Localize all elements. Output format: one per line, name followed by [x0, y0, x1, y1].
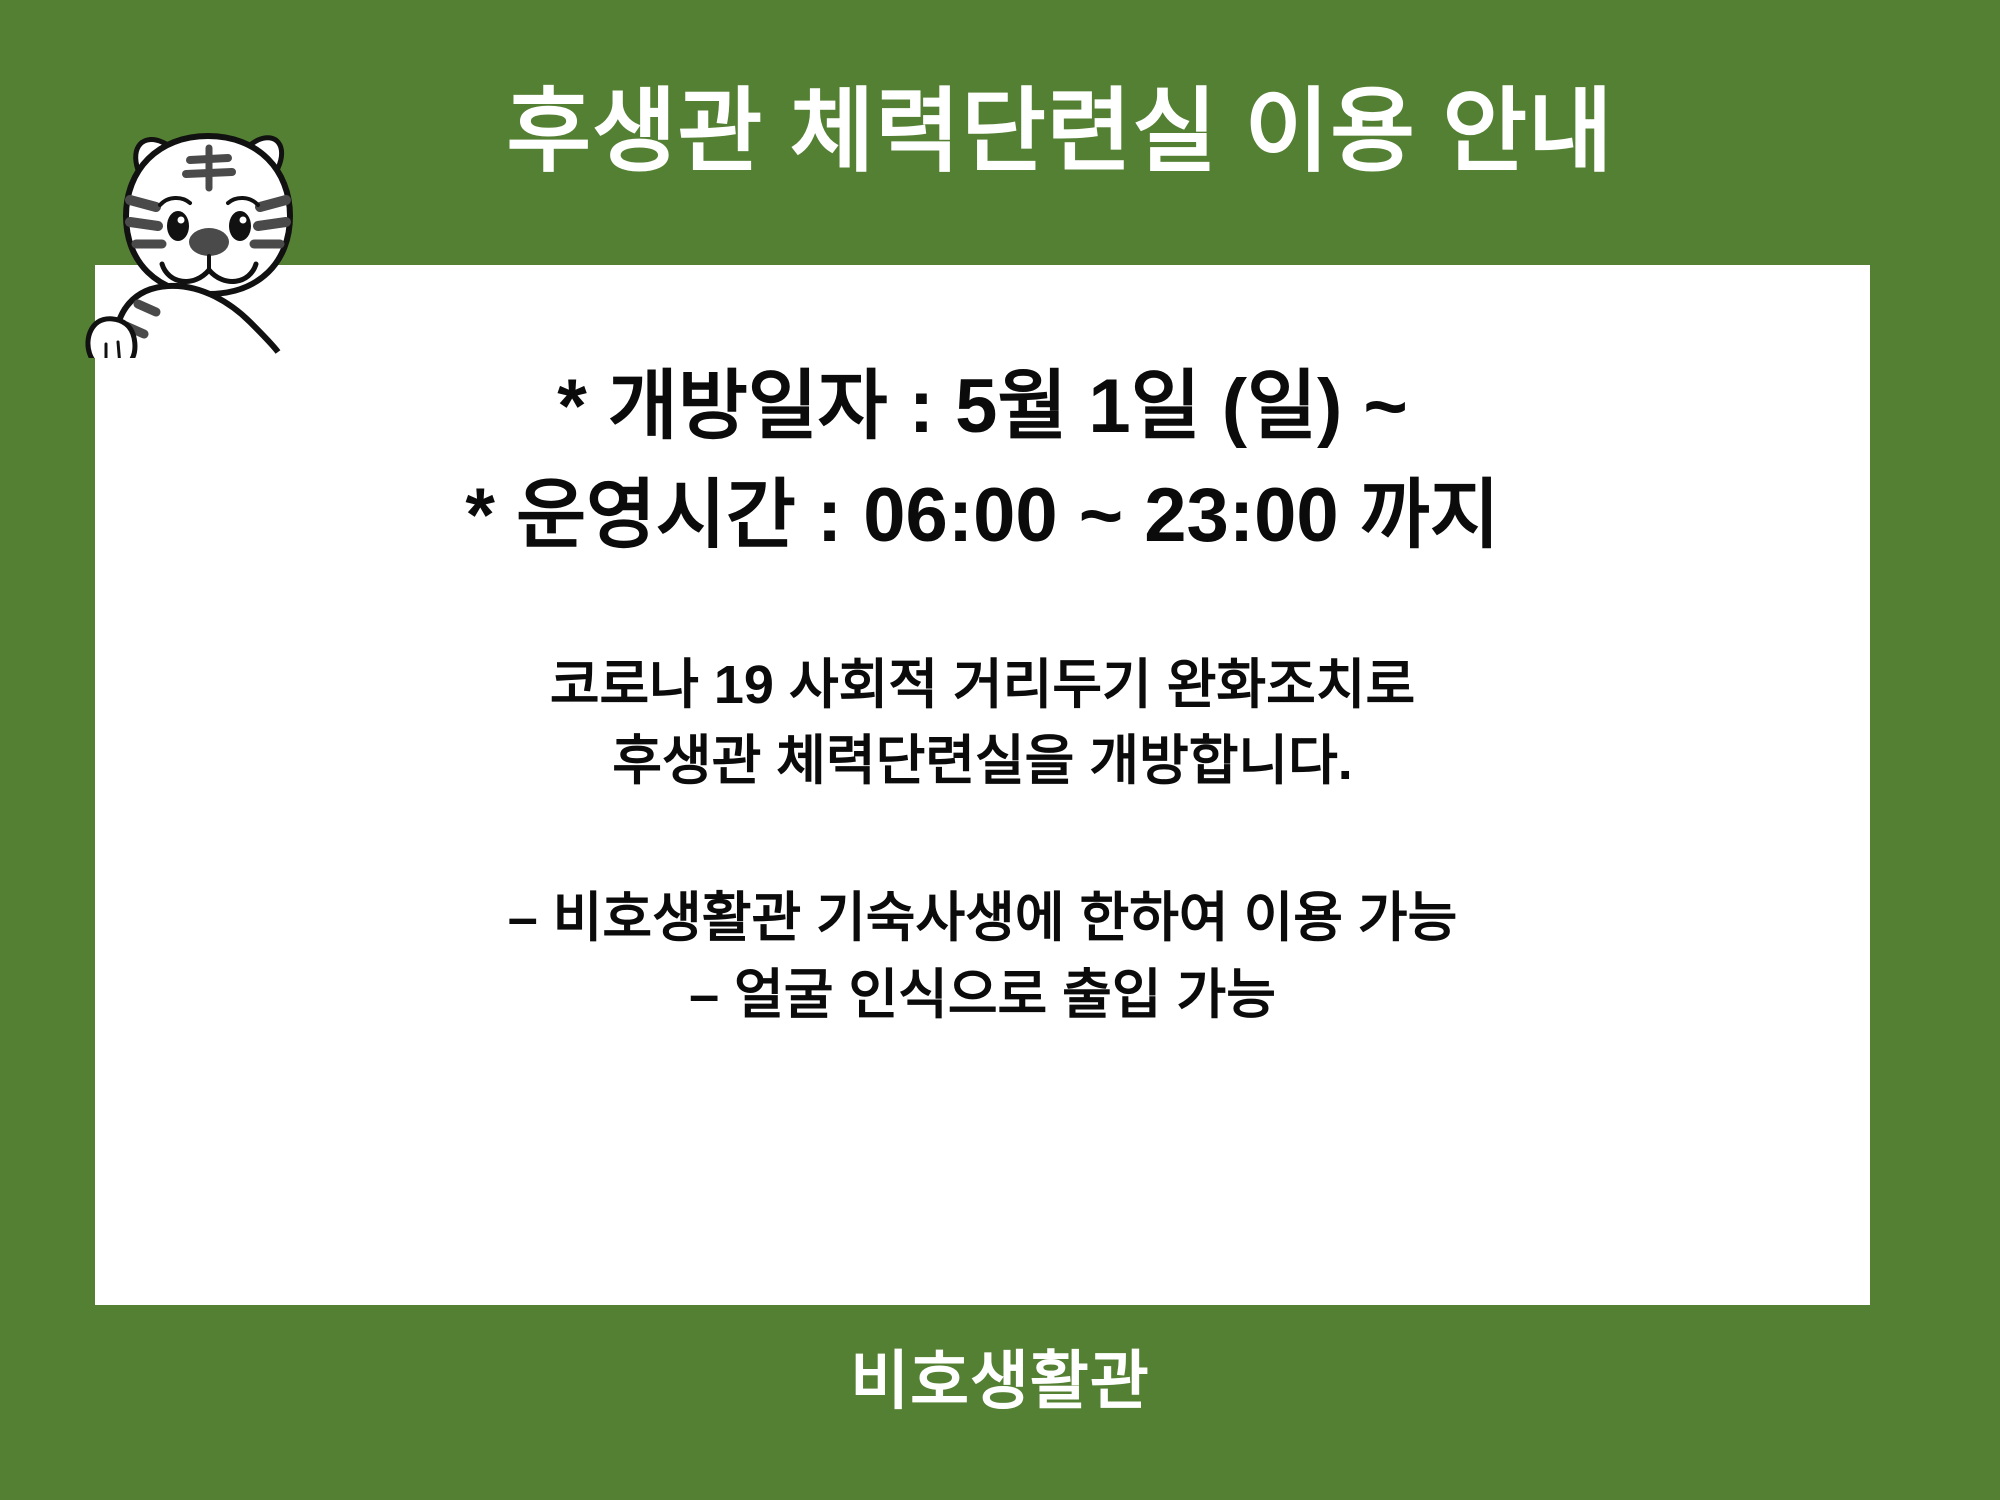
opening-date-line: * 개방일자 : 5월 1일 (일) ~ [557, 355, 1408, 460]
paragraph-line-2: 후생관 체력단련실을 개방합니다. [550, 723, 1415, 800]
bullet-line-2: – 얼굴 인식으로 출입 가능 [508, 957, 1458, 1034]
page-title: 후생관 체력단련실 이용 안내 [506, 82, 1613, 183]
footer: 비호생활관 [0, 1330, 2000, 1422]
operating-hours-line: * 운영시간 : 06:00 ~ 23:00 까지 [465, 464, 1499, 569]
bullet-block: – 비호생활관 기숙사생에 한하여 이용 가능 – 얼굴 인식으로 출입 가능 [508, 880, 1458, 1033]
paragraph-block: 코로나 19 사회적 거리두기 완화조치로 후생관 체력단련실을 개방합니다. [550, 647, 1415, 800]
footer-organization-label: 비호생활관 [850, 1345, 1149, 1417]
paragraph-line-1: 코로나 19 사회적 거리두기 완화조치로 [550, 647, 1415, 724]
content-card: * 개방일자 : 5월 1일 (일) ~ * 운영시간 : 06:00 ~ 23… [95, 265, 1870, 1305]
bullet-line-1: – 비호생활관 기숙사생에 한하여 이용 가능 [508, 880, 1458, 957]
title-bar: 후생관 체력단련실 이용 안내 [0, 0, 2000, 265]
notice-poster: 후생관 체력단련실 이용 안내 [0, 0, 2000, 1500]
